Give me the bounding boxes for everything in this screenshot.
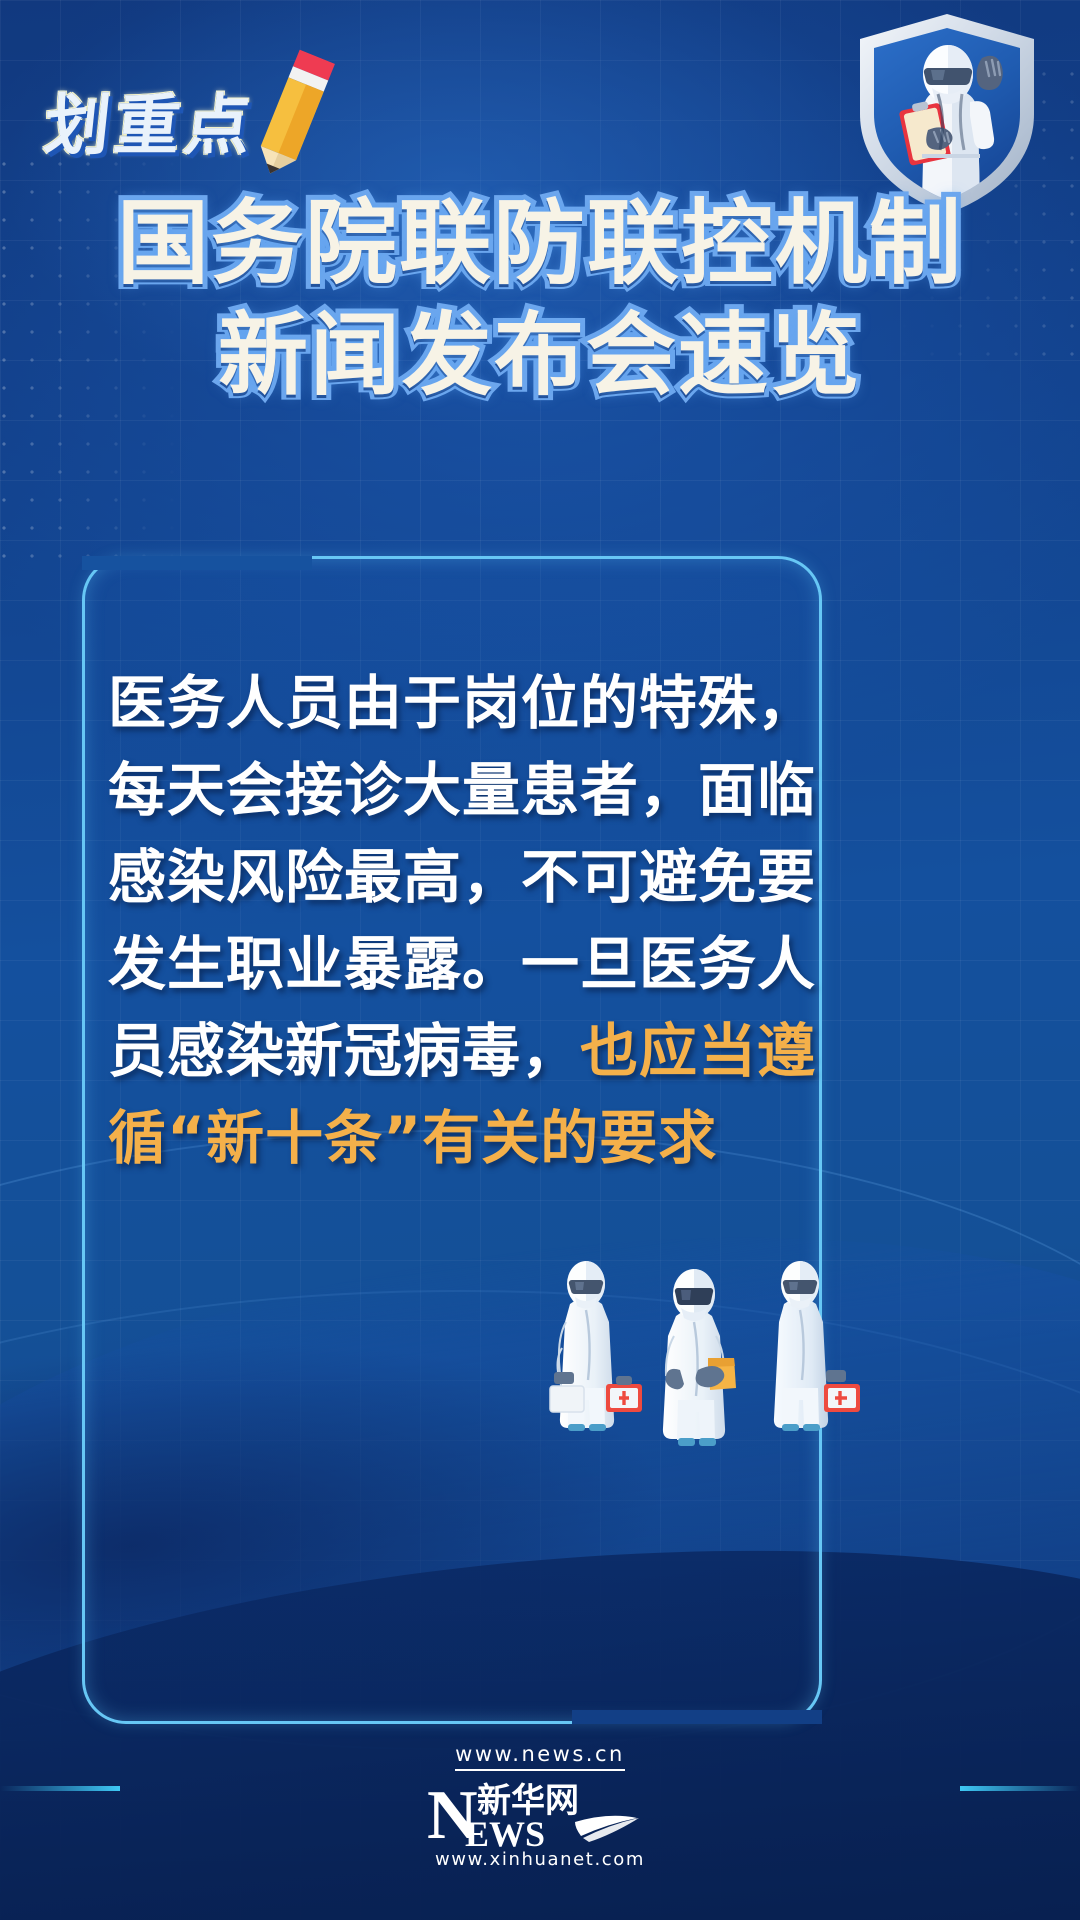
body-span-5-1: 员感染新冠病毒， — [108, 1017, 580, 1085]
worker-right — [774, 1261, 860, 1431]
logo-url-top: www.news.cn — [455, 1742, 625, 1771]
body-span-3-1: 感染风险最高，不可避免要 — [108, 843, 816, 911]
kicker-banner: 划重点 — [45, 58, 331, 182]
body-line-6: 循“新十条”有关的要求 — [108, 1095, 828, 1182]
page-title: 国务院联防联控机制 新闻发布会速览 — [0, 188, 1080, 412]
xinhua-wordmark-icon: N 新华网 EWS — [425, 1776, 655, 1850]
body-line-2: 每天会接诊大量患者，面临 — [108, 747, 828, 834]
body-text-block: 医务人员由于岗位的特殊，每天会接诊大量患者，面临感染风险最高，不可避免要发生职业… — [108, 660, 828, 1182]
body-line-3: 感染风险最高，不可避免要 — [108, 834, 828, 921]
body-highlight-span-5-2: 也应当遵 — [580, 1017, 816, 1085]
body-span-2-1: 每天会接诊大量患者，面临 — [108, 756, 816, 824]
medical-workers-illustration — [548, 1218, 878, 1468]
svg-text:EWS: EWS — [465, 1814, 545, 1850]
three-medical-workers-ppe-icon — [548, 1218, 878, 1468]
worker-left — [550, 1261, 614, 1431]
xinhua-logo[interactable]: www.news.cn N 新华网 EWS www.xinhuanet.com — [0, 1742, 1080, 1870]
panel-notch-top — [82, 556, 312, 570]
worker-center — [663, 1269, 736, 1446]
body-line-5: 员感染新冠病毒，也应当遵 — [108, 1008, 828, 1095]
body-line-4: 发生职业暴露。一旦医务人 — [108, 921, 828, 1008]
panel-notch-bottom — [572, 1710, 822, 1724]
body-span-4-1: 发生职业暴露。一旦医务人 — [108, 930, 816, 998]
kicker-label: 划重点 — [40, 72, 260, 168]
title-line-2: 新闻发布会速览 — [0, 300, 1080, 412]
logo-url-bottom: www.xinhuanet.com — [425, 1849, 655, 1870]
poster-root: 划重点 — [0, 0, 1080, 1920]
body-span-1-1: 医务人员由于岗位的特殊， — [108, 669, 816, 737]
body-line-1: 医务人员由于岗位的特殊， — [108, 660, 828, 747]
title-line-1: 国务院联防联控机制 — [0, 188, 1080, 300]
body-highlight-span-6-1: 循“新十条”有关的要求 — [108, 1104, 717, 1172]
